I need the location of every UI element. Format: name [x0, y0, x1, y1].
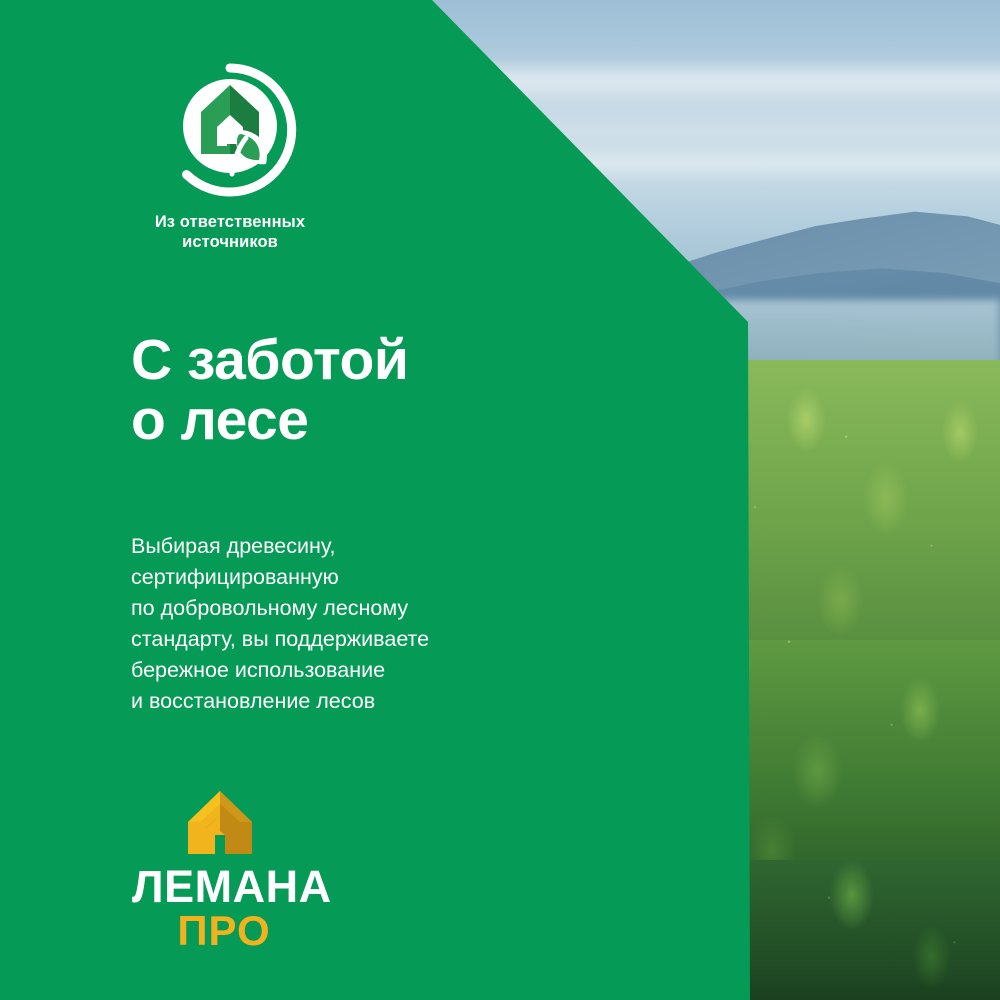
body-line-3: по добровольному лесному	[131, 593, 601, 624]
headline-line2: о лесе	[131, 390, 611, 450]
body-line-2: сертифицированную	[131, 562, 601, 593]
poster-root: Из ответственных источников С заботой о …	[0, 0, 1000, 1000]
brand-logo: ЛЕМАНА ПРО	[130, 788, 330, 953]
body-line-5: бережное использование	[131, 655, 601, 686]
body-line-6: и восстановление лесов	[131, 686, 601, 717]
page-title: С заботой о лесе	[131, 330, 611, 451]
certification-caption: Из ответственных источников	[130, 212, 330, 252]
brand-suffix: ПРО	[118, 910, 330, 953]
body-copy: Выбирая древесину, сертифицированную по …	[131, 531, 601, 717]
lemana-house-icon	[184, 788, 256, 860]
certification-caption-line2: источников	[182, 233, 278, 251]
certification-badge: Из ответственных источников	[130, 62, 330, 252]
headline-line1: С заботой	[131, 328, 408, 392]
certification-caption-line1: Из ответственных	[155, 213, 305, 231]
house-leaf-circle-icon	[162, 62, 298, 198]
brand-name: ЛЕМАНА	[132, 864, 330, 909]
body-line-4: стандарту, вы поддерживаете	[131, 624, 601, 655]
body-line-1: Выбирая древесину,	[131, 531, 601, 562]
